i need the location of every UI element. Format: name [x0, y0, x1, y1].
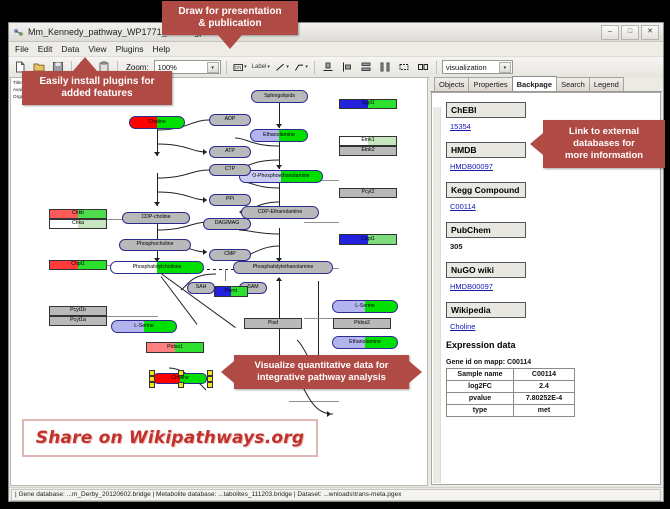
- node-label: SAM: [247, 285, 258, 290]
- node-label: Sphingolipids: [264, 94, 295, 99]
- pathvisio-icon: [13, 27, 24, 38]
- table-row: log2FC 2.4: [447, 381, 575, 393]
- panel-scrollbar[interactable]: [433, 107, 441, 483]
- group-icon[interactable]: [396, 59, 412, 75]
- chevron-down-icon[interactable]: ▾: [244, 64, 247, 70]
- node-ctp[interactable]: CTP: [209, 164, 251, 176]
- interaction-tool-icon[interactable]: ▾: [293, 59, 309, 75]
- node-sgpl1[interactable]: Sgpl1: [339, 99, 397, 109]
- callout-arrow-down-icon: [218, 35, 242, 49]
- expr-value: 7.80252E-4: [514, 393, 575, 405]
- db-link-kegg-compound[interactable]: C00114: [450, 202, 660, 211]
- node-label: ATP: [225, 149, 235, 154]
- table-row: Sample name C00114: [447, 369, 575, 381]
- node-atp[interactable]: ATP: [209, 146, 251, 158]
- menu-item-help[interactable]: Help: [152, 44, 171, 54]
- callout-plugins: Easily install plugins for added feature…: [22, 71, 172, 105]
- callout-draw: Draw for presentation & publication: [162, 1, 298, 35]
- node-label: DAG/MAG: [215, 221, 240, 226]
- window-titlebar: Mm_Kennedy_pathway_WP1771_45176.gpml – □…: [9, 23, 663, 42]
- resize-handle-sw[interactable]: [149, 382, 155, 388]
- minimize-button[interactable]: –: [601, 25, 619, 40]
- db-link-nugo-wiki[interactable]: HMDB00097: [450, 282, 660, 291]
- side-panel-tabs: Objects Properties Backpage Search Legen…: [430, 77, 662, 92]
- node-label: PPi: [226, 197, 234, 202]
- edge-pcyt1-link: [106, 316, 158, 317]
- node-label: Pemt: [225, 289, 237, 294]
- share-banner: Share on Wikipathways.org: [22, 419, 318, 457]
- chevron-down-icon[interactable]: ▾: [207, 62, 219, 73]
- close-button[interactable]: ✕: [641, 25, 659, 40]
- datanode-tool-icon[interactable]: DN ▾: [232, 59, 248, 75]
- maximize-button[interactable]: □: [621, 25, 639, 40]
- menubar: File Edit Data View Plugins Help: [9, 42, 663, 57]
- db-link-wikipedia[interactable]: Choline: [450, 322, 660, 331]
- stack-rows-icon[interactable]: [358, 59, 374, 75]
- toolbar-separator-3: [226, 61, 227, 74]
- db-header-chebi: ChEBI: [446, 102, 526, 118]
- tab-properties[interactable]: Properties: [468, 77, 512, 91]
- node-label: Choline: [171, 376, 189, 381]
- db-header-kegg-compound: Kegg Compound: [446, 182, 526, 198]
- node-ptdss2[interactable]: Ptdss2: [333, 318, 391, 329]
- node-label: L-Serine: [134, 324, 154, 329]
- edge-etnk-link: [304, 222, 339, 223]
- node-ppi[interactable]: PPi: [209, 194, 251, 206]
- node-label: Pcyt1a: [70, 318, 86, 323]
- node-label: Chpt1: [71, 262, 85, 267]
- node-label: Etnk1: [361, 138, 374, 143]
- window-controls: – □ ✕: [601, 25, 659, 40]
- callout-arrow-right-icon: [409, 361, 422, 383]
- tab-legend[interactable]: Legend: [589, 77, 624, 91]
- chevron-down-icon[interactable]: ▾: [499, 62, 511, 73]
- tab-objects[interactable]: Objects: [434, 77, 469, 91]
- node-pcyt2[interactable]: Pcyt2: [339, 188, 397, 198]
- node-chkb[interactable]: Chkb: [49, 209, 107, 219]
- menu-item-data[interactable]: Data: [60, 44, 80, 54]
- resize-handle-s[interactable]: [178, 382, 184, 388]
- node-sah[interactable]: SAH: [187, 282, 215, 294]
- label-tool-text: Label: [252, 64, 267, 70]
- node-sphingolipids[interactable]: Sphingolipids: [251, 90, 308, 103]
- node-label: CDP-Ethanolamine: [258, 210, 302, 215]
- node-label: L-Serine: [355, 304, 375, 309]
- node-label: Pisd: [268, 321, 278, 326]
- selected-node-group[interactable]: Choline: [149, 370, 211, 386]
- arrow-right-icon: [327, 411, 331, 417]
- node-chka[interactable]: Chka: [49, 219, 107, 229]
- chevron-down-icon[interactable]: ▾: [267, 64, 270, 70]
- node-label: SAH: [196, 285, 207, 290]
- node-phosphocholine[interactable]: Phosphocholine: [119, 239, 191, 251]
- node-label: Ethanolamine: [349, 340, 381, 345]
- chevron-down-icon[interactable]: ▾: [286, 64, 289, 70]
- node-label: Phosphatidylcholines: [133, 265, 182, 270]
- menu-item-view[interactable]: View: [87, 44, 107, 54]
- expr-value: met: [514, 405, 575, 417]
- node-pisd[interactable]: Pisd: [244, 318, 302, 329]
- align-left-icon[interactable]: [339, 59, 355, 75]
- node-label: Sgpl1: [361, 101, 374, 106]
- table-row: pvalue 7.80252E-4: [447, 393, 575, 405]
- node-label: Phosphatidylethanolamine: [253, 265, 314, 270]
- node-label: Pcyt1b: [70, 308, 86, 313]
- arrow-down-icon: [154, 152, 160, 156]
- expression-table: Sample name C00114 log2FC 2.4 pvalue 7.8…: [446, 368, 575, 417]
- label-tool-icon[interactable]: Label ▾: [251, 59, 271, 75]
- status-text: | Gene database: ...m_Derby_20120602.bri…: [11, 489, 661, 501]
- visualization-value: visualization: [446, 63, 487, 72]
- edge-pisd-link: [289, 401, 319, 402]
- node-phosphatidylcholines[interactable]: Phosphatidylcholines: [110, 261, 204, 274]
- node-label: Chka: [72, 221, 84, 226]
- chevron-down-icon[interactable]: ▾: [305, 64, 308, 70]
- node-phosphatidylethanolamine[interactable]: Phosphatidylethanolamine: [233, 261, 333, 274]
- node-chpt1[interactable]: Chpt1: [49, 260, 107, 270]
- node-etnk2[interactable]: Etnk2: [339, 146, 397, 156]
- menu-item-plugins[interactable]: Plugins: [115, 44, 145, 54]
- callout-arrow-up-icon: [73, 57, 97, 71]
- node-label: Pcyt2: [362, 190, 375, 195]
- node-label: Phosphocholine: [137, 242, 174, 247]
- expr-value: C00114: [514, 369, 575, 381]
- node-cdp-choline[interactable]: CDP-choline: [122, 212, 190, 224]
- node-label: O-Phosphoethanolamine: [252, 174, 309, 179]
- db-header-pubchem: PubChem: [446, 222, 526, 238]
- edge-pemt-anchor: [225, 269, 226, 281]
- menu-item-file[interactable]: File: [14, 44, 30, 54]
- expr-key: log2FC: [447, 381, 514, 393]
- expr-key: type: [447, 405, 514, 417]
- arrow-right-icon: [203, 197, 207, 203]
- screenshot-root: Mm_Kennedy_pathway_WP1771_45176.gpml – □…: [0, 0, 670, 509]
- arrow-down-icon: [154, 202, 160, 206]
- db-header-hmdb: HMDB: [446, 142, 526, 158]
- visualization-combobox[interactable]: visualization ▾: [442, 60, 513, 74]
- distribute-columns-icon[interactable]: [377, 59, 393, 75]
- callout-arrow-left-icon: [221, 361, 234, 383]
- node-ethanolamine-bottom[interactable]: Ethanolamine: [332, 336, 398, 349]
- node-label: Ethanolamine: [263, 133, 295, 138]
- node-cept1[interactable]: Cept1: [339, 234, 397, 245]
- db-value-pubchem: 305: [450, 242, 660, 251]
- node-etnk1[interactable]: Etnk1: [339, 136, 397, 146]
- callout-links: Link to external databases for more info…: [543, 120, 665, 168]
- node-l-serine-right[interactable]: L-Serine: [332, 300, 398, 313]
- table-row: type met: [447, 405, 575, 417]
- node-label: ADP: [225, 117, 236, 122]
- ungroup-icon[interactable]: [415, 59, 431, 75]
- node-pcyt1a[interactable]: Pcyt1a: [49, 316, 107, 326]
- node-label: Ptdss1: [167, 345, 183, 350]
- line-tool-icon[interactable]: ▾: [274, 59, 290, 75]
- callout-visualize: Visualize quantitative data for integrat…: [234, 355, 409, 389]
- node-label: CMP: [224, 252, 236, 257]
- share-banner-text: Share on Wikipathways.org: [36, 428, 304, 448]
- node-label: CDP-choline: [141, 215, 170, 220]
- toolbar-separator-5: [436, 61, 437, 74]
- node-l-serine-left[interactable]: L-Serine: [111, 320, 177, 333]
- db-header-wikipedia: Wikipedia: [446, 302, 526, 318]
- gene-id-on-mapp: Gene id on mapp: C00114: [446, 359, 660, 366]
- node-cmp[interactable]: CMP: [209, 249, 251, 261]
- expression-data-title: Expression data: [446, 340, 660, 350]
- resize-handle-se[interactable]: [207, 382, 213, 388]
- expr-key: Sample name: [447, 369, 514, 381]
- tab-backpage[interactable]: Backpage: [512, 76, 557, 91]
- arrow-right-icon: [203, 249, 207, 255]
- node-cdp-ethanolamine[interactable]: CDP-Ethanolamine: [241, 206, 319, 219]
- node-label: Ptdss2: [354, 321, 370, 326]
- edge-cdpeth-ptdeth: [279, 228, 280, 262]
- callout-arrow-left-icon: [530, 133, 543, 155]
- arrow-down-icon: [276, 165, 282, 169]
- node-label: Etnk2: [361, 148, 374, 153]
- node-dagmag[interactable]: DAG/MAG: [203, 218, 251, 230]
- node-ptdss1[interactable]: Ptdss1: [146, 342, 204, 353]
- arrow-up-icon: [276, 277, 282, 281]
- db-header-nugo-wiki: NuGO wiki: [446, 262, 526, 278]
- svg-text:DN: DN: [235, 64, 241, 69]
- tab-search[interactable]: Search: [556, 77, 590, 91]
- node-pemt[interactable]: Pemt: [214, 286, 248, 297]
- node-label: Cept1: [361, 237, 375, 242]
- node-o-phosphoethanolamine[interactable]: O-Phosphoethanolamine: [239, 170, 323, 183]
- node-ethanolamine-top[interactable]: Ethanolamine: [250, 129, 308, 142]
- node-label: Chkb: [72, 211, 84, 216]
- arrow-right-icon: [203, 149, 207, 155]
- align-bottom-icon[interactable]: [320, 59, 336, 75]
- menu-item-edit[interactable]: Edit: [37, 44, 54, 54]
- node-label: CTP: [225, 167, 235, 172]
- arrow-down-icon: [276, 124, 282, 128]
- node-choline-top[interactable]: Choline: [129, 116, 185, 129]
- status-bar: | Gene database: ...m_Derby_20120602.bri…: [9, 487, 663, 501]
- expr-value: 2.4: [514, 381, 575, 393]
- toolbar-separator-4: [314, 61, 315, 74]
- expr-key: pvalue: [447, 393, 514, 405]
- node-pcyt1b[interactable]: Pcyt1b: [49, 306, 107, 316]
- node-label: Choline: [148, 120, 166, 125]
- node-adp[interactable]: ADP: [209, 114, 251, 126]
